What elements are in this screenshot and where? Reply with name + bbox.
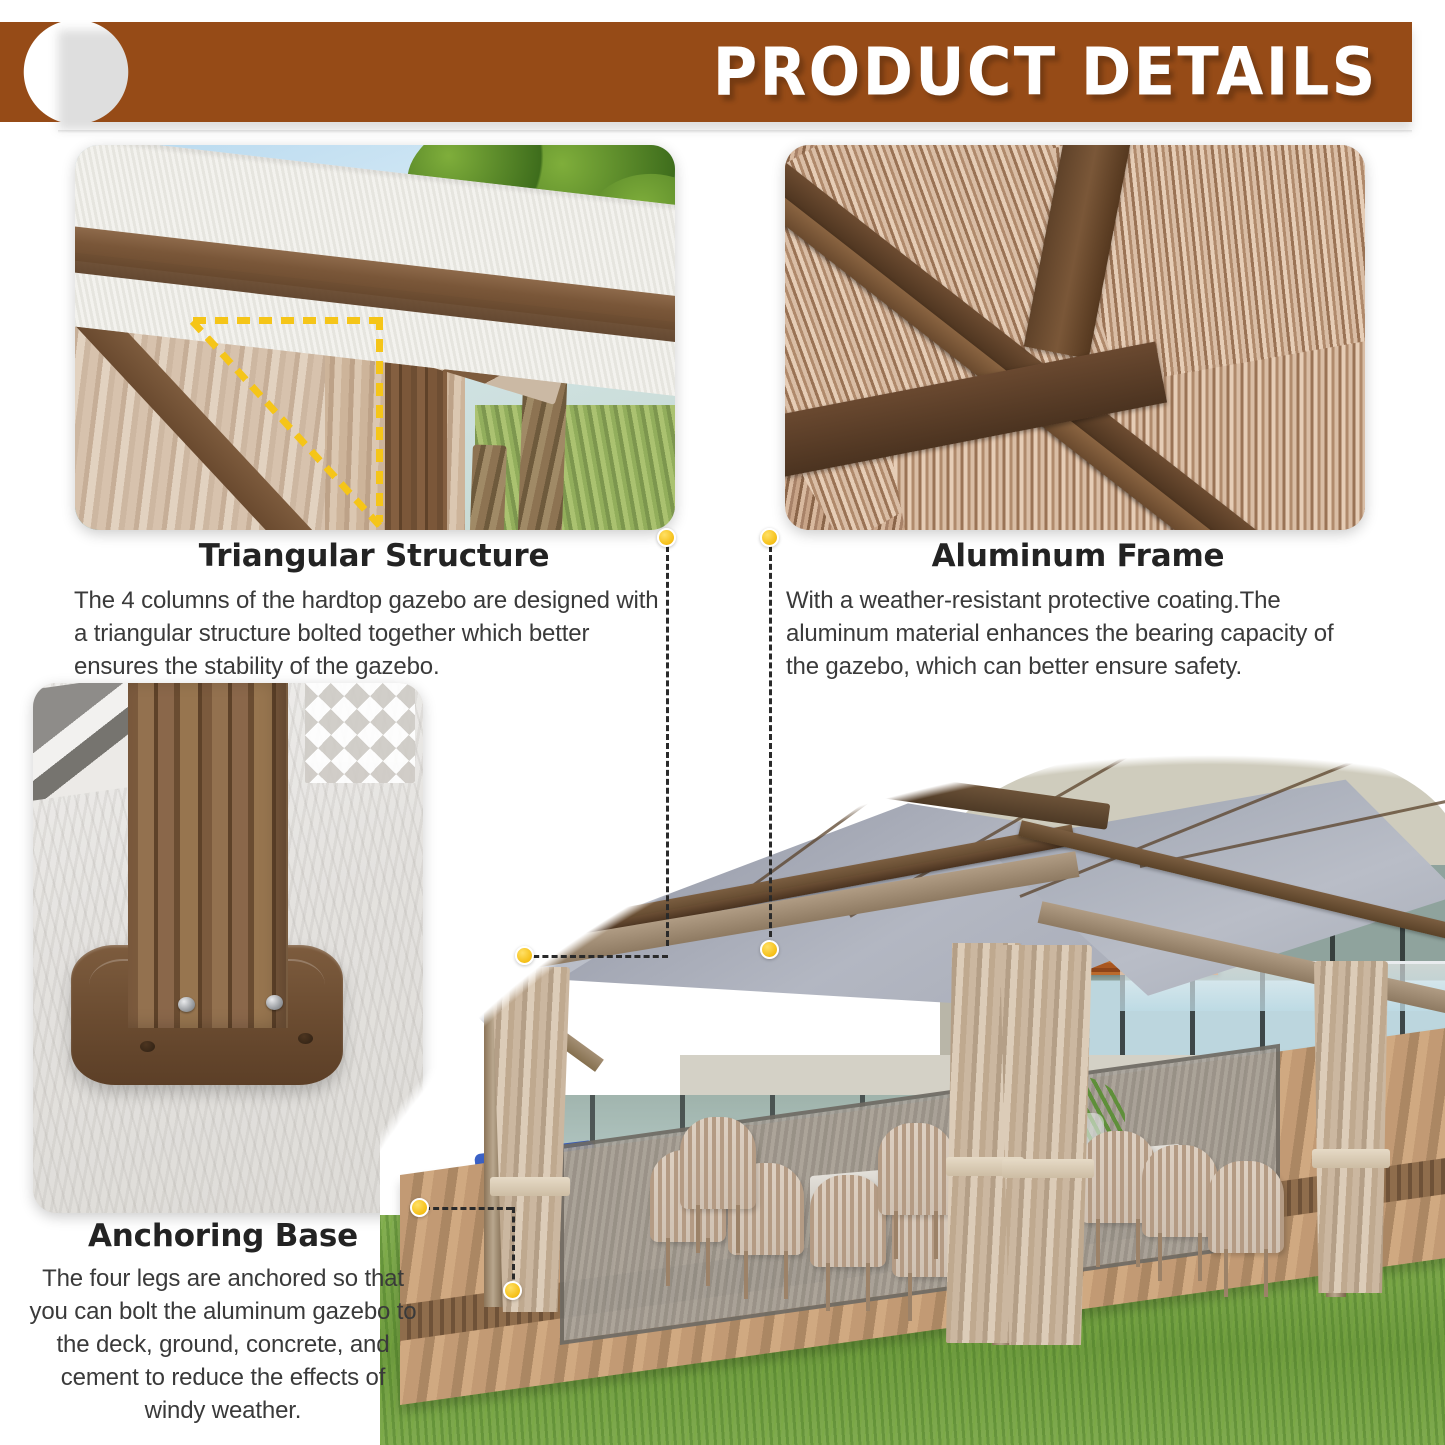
callout-dot-triangular-target [515, 946, 534, 965]
anchoring-base-photo [33, 683, 423, 1213]
callout-line-triangular-vertical [666, 546, 669, 946]
banner-underline [58, 130, 1412, 133]
aluminum-frame-photo [785, 145, 1365, 530]
gazebo-curtain-center-right [1000, 945, 1092, 1345]
gazebo [380, 745, 1445, 1445]
feature-title-aluminum: Aluminum Frame [786, 538, 1370, 574]
callout-line-anchor-vertical [512, 1207, 515, 1289]
highlight-right-edge [376, 317, 383, 522]
gazebo-post-fluted [128, 683, 288, 1028]
anchor-hole [140, 1041, 155, 1052]
palm-trunk-secondary [469, 444, 507, 530]
callout-dot-anchor-origin [410, 1198, 429, 1217]
hero-gazebo-scene [380, 745, 1445, 1445]
anchor-hole [298, 1033, 313, 1044]
highlight-diagonal-edge [190, 319, 383, 529]
feature-aluminum-frame: Aluminum Frame With a weather-resistant … [786, 538, 1370, 683]
gazebo-curtain-right [1314, 961, 1388, 1293]
callout-dot-anchor-target [503, 1281, 522, 1300]
feature-title-triangular: Triangular Structure [74, 538, 674, 574]
feature-title-anchor: Anchoring Base [28, 1218, 418, 1254]
feature-body-triangular: The 4 columns of the hardtop gazebo are … [74, 584, 674, 683]
curtain-tieback [1312, 1149, 1390, 1168]
callout-dot-aluminum-origin [760, 528, 779, 547]
curtain-tieback [1002, 1159, 1094, 1178]
highlight-top-edge [193, 317, 383, 324]
callout-dot-triangular-origin [657, 528, 676, 547]
callout-line-aluminum-vertical [769, 546, 772, 946]
feature-body-anchor: The four legs are anchored so that you c… [28, 1262, 418, 1428]
feature-triangular-structure: Triangular Structure The 4 columns of th… [74, 538, 674, 683]
triangular-structure-photo [75, 145, 675, 530]
feature-body-aluminum: With a weather-resistant protective coat… [786, 584, 1370, 683]
curtain-tieback [490, 1177, 570, 1196]
header-banner: PRODUCT DETAILS [0, 22, 1412, 122]
callout-dot-aluminum-target [760, 940, 779, 959]
anchor-bolt [266, 995, 283, 1010]
callout-line-triangular-horizontal [524, 955, 668, 958]
anchor-bolt [178, 997, 195, 1012]
feature-anchoring-base: Anchoring Base The four legs are anchore… [28, 1218, 418, 1428]
triangle-highlight-overlay [193, 317, 383, 522]
product-details-page: PRODUCT DETAILS [0, 0, 1445, 1445]
page-title: PRODUCT DETAILS [713, 34, 1378, 111]
callout-line-anchor-horizontal [424, 1207, 512, 1210]
gazebo-curtain-left [492, 967, 570, 1312]
